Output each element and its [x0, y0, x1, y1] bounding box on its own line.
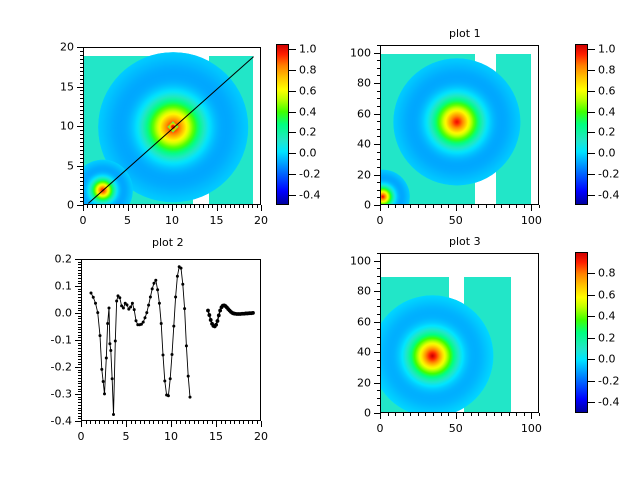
x-tick-minor — [114, 205, 115, 208]
x-tick-minor — [158, 421, 159, 424]
x-tick-minor — [168, 205, 169, 208]
colorbar-tick — [588, 195, 595, 196]
data-point-marker — [176, 275, 179, 278]
x-tick-minor — [539, 413, 540, 416]
data-point-marker — [92, 296, 95, 299]
data-point-marker — [111, 377, 114, 380]
y-tick-minor — [377, 136, 380, 137]
y-tick-minor — [78, 405, 81, 406]
x-tick-minor — [418, 413, 419, 416]
y-tick-minor — [377, 60, 380, 61]
y-tick-minor — [377, 98, 380, 99]
y-tick-minor — [78, 356, 81, 357]
y-tick-minor — [80, 98, 83, 99]
data-point-marker — [112, 413, 115, 416]
x-tick-minor — [90, 421, 91, 424]
y-tick-label: 100 — [350, 46, 371, 59]
data-point-marker — [144, 316, 147, 319]
x-tick-minor — [509, 413, 510, 416]
subplot-title-plot-2: plot 2 — [152, 236, 184, 249]
subplot-bottom-right[interactable]: plot 3 020406080100050100 -0.4-0.20.00.2… — [320, 240, 640, 480]
y-tick-minor — [80, 55, 83, 56]
x-tick-minor — [163, 205, 164, 208]
x-tick-minor — [105, 205, 106, 208]
x-tick-minor — [395, 413, 396, 416]
data-point-marker — [103, 392, 106, 395]
x-tick-major — [531, 413, 532, 419]
y-tick-minor — [78, 389, 81, 390]
data-point-marker — [154, 279, 157, 282]
data-point-marker — [181, 283, 184, 286]
y-tick-label: 10 — [60, 120, 74, 133]
y-tick-minor — [377, 299, 380, 300]
y-tick-minor — [78, 294, 81, 295]
colorbar-plot-3 — [575, 252, 588, 413]
y-tick-minor — [80, 90, 83, 91]
y-tick-label: 0.0 — [55, 307, 73, 320]
y-tick-label: -0.1 — [51, 334, 72, 347]
colorbar-tick-label: 0.6 — [598, 288, 616, 301]
x-tick-minor — [516, 413, 517, 416]
y-tick-minor — [78, 362, 81, 363]
y-tick-minor — [78, 327, 81, 328]
figure-canvas: 0510152005101520 -0.4-0.20.00.20.40.60.8… — [0, 0, 640, 480]
x-tick-major — [380, 205, 381, 211]
y-tick-minor — [80, 110, 83, 111]
x-tick-minor — [501, 205, 502, 208]
y-tick-minor — [80, 177, 83, 178]
y-tick-major — [374, 53, 380, 54]
x-tick-major — [171, 421, 172, 427]
colorbar-tick-label: -0.4 — [598, 188, 619, 201]
data-point-marker — [142, 321, 145, 324]
data-point-marker — [214, 323, 218, 327]
data-point-marker — [99, 334, 102, 337]
x-tick-major — [456, 413, 457, 419]
y-tick-minor — [78, 381, 81, 382]
y-tick-minor — [80, 130, 83, 131]
x-tick-minor — [410, 205, 411, 208]
x-tick-minor — [154, 205, 155, 208]
y-tick-minor — [78, 378, 81, 379]
y-tick-minor — [80, 181, 83, 182]
x-tick-minor — [425, 413, 426, 416]
colorbar-tick — [588, 402, 595, 403]
data-point-marker — [147, 304, 150, 307]
data-point-marker — [185, 344, 188, 347]
y-tick-minor — [377, 121, 380, 122]
colorbar-tick-label: 0.0 — [299, 147, 317, 160]
x-tick-minor — [117, 421, 118, 424]
data-point-marker — [109, 349, 112, 352]
y-tick-minor — [80, 51, 83, 52]
x-tick-minor — [135, 421, 136, 424]
y-tick-label: 15 — [60, 80, 74, 93]
x-tick-minor — [225, 205, 226, 208]
y-tick-minor — [377, 68, 380, 69]
heatmap-patch — [464, 277, 511, 413]
x-tick-minor — [410, 413, 411, 416]
y-tick-minor — [377, 390, 380, 391]
y-tick-label: 0 — [67, 199, 74, 212]
colorbar-tick — [289, 132, 296, 133]
y-tick-label: 0 — [364, 199, 371, 212]
x-tick-minor — [141, 205, 142, 208]
y-tick-minor — [80, 114, 83, 115]
y-tick-minor — [78, 332, 81, 333]
y-tick-minor — [78, 273, 81, 274]
colorbar-tick — [289, 174, 296, 175]
x-tick-minor — [418, 205, 419, 208]
data-point-marker — [108, 307, 111, 310]
x-tick-minor — [199, 205, 200, 208]
y-tick-minor — [78, 278, 81, 279]
x-tick-minor — [96, 205, 97, 208]
y-tick-minor — [377, 152, 380, 153]
y-tick-minor — [80, 94, 83, 95]
y-tick-minor — [78, 399, 81, 400]
colorbar-tick — [588, 273, 595, 274]
x-tick-minor — [136, 205, 137, 208]
x-tick-minor — [208, 205, 209, 208]
y-tick-minor — [80, 59, 83, 60]
y-tick-label: 80 — [357, 77, 371, 90]
data-point-marker — [216, 319, 220, 323]
y-tick-minor — [377, 314, 380, 315]
x-tick-minor — [87, 205, 88, 208]
y-tick-minor — [78, 359, 81, 360]
subplot-bottom-left[interactable]: plot 2 -0.4-0.3-0.2-0.10.00.10.205101520 — [0, 240, 320, 480]
data-point-marker — [149, 295, 152, 298]
x-tick-minor — [239, 421, 240, 424]
data-point-marker — [145, 311, 148, 314]
colorbar-tick — [588, 338, 595, 339]
x-tick-major — [456, 205, 457, 211]
y-tick-label: 60 — [357, 315, 371, 328]
y-tick-label: -0.3 — [51, 388, 72, 401]
y-tick-minor — [377, 190, 380, 191]
y-tick-label: 80 — [357, 285, 371, 298]
axes-top-left[interactable] — [83, 47, 261, 205]
y-tick-minor — [80, 193, 83, 194]
x-tick-major — [172, 205, 173, 211]
y-tick-minor — [80, 75, 83, 76]
x-tick-minor — [149, 421, 150, 424]
x-tick-minor — [194, 421, 195, 424]
y-tick-minor — [78, 418, 81, 419]
y-tick-major — [374, 144, 380, 145]
y-tick-major — [75, 286, 81, 287]
data-point-marker — [118, 296, 121, 299]
y-tick-minor — [78, 300, 81, 301]
x-tick-minor — [122, 421, 123, 424]
x-tick-minor — [257, 421, 258, 424]
colorbar-tick-label: -0.2 — [299, 167, 320, 180]
y-tick-minor — [80, 83, 83, 84]
colorbar-tick-label: 0.6 — [299, 84, 317, 97]
data-point-marker — [160, 322, 163, 325]
data-point-marker — [90, 291, 93, 294]
colorbar-tick-label: -0.4 — [299, 188, 320, 201]
x-tick-minor — [110, 205, 111, 208]
colorbar-tick — [289, 70, 296, 71]
x-tick-minor — [189, 421, 190, 424]
data-point-marker — [167, 394, 170, 397]
subplot-title-plot-3: plot 3 — [449, 235, 481, 248]
colorbar-tick-label: 0.6 — [598, 84, 616, 97]
colorbar-tick-label: 0.4 — [598, 310, 616, 323]
y-tick-label: 0.2 — [55, 253, 73, 266]
colorbar-tick-label: -0.2 — [598, 167, 619, 180]
x-tick-major — [81, 421, 82, 427]
y-tick-minor — [78, 408, 81, 409]
colorbar-tick-label: 0.8 — [598, 267, 616, 280]
x-tick-minor — [180, 421, 181, 424]
x-tick-label: 50 — [449, 422, 463, 435]
colorbar-tick — [289, 49, 296, 50]
x-tick-major — [380, 413, 381, 419]
y-tick-label: 60 — [357, 107, 371, 120]
y-tick-minor — [78, 267, 81, 268]
y-tick-minor — [78, 345, 81, 346]
x-tick-label: 10 — [165, 214, 179, 227]
colorbar-gradient-top-left — [277, 45, 288, 204]
x-tick-minor — [463, 413, 464, 416]
y-tick-minor — [80, 146, 83, 147]
colorbar-tick — [588, 174, 595, 175]
y-tick-minor — [377, 344, 380, 345]
y-tick-minor — [78, 291, 81, 292]
colorbar-tick — [588, 359, 595, 360]
colorbar-tick-label: 0.2 — [598, 331, 616, 344]
x-tick-label: 20 — [254, 214, 268, 227]
x-tick-minor — [159, 205, 160, 208]
data-point-marker — [156, 288, 159, 291]
x-tick-minor — [123, 205, 124, 208]
colorbar-tick — [588, 316, 595, 317]
x-tick-minor — [150, 205, 151, 208]
y-tick-minor — [80, 63, 83, 64]
colorbar-top-left — [276, 44, 289, 205]
x-tick-minor — [113, 421, 114, 424]
y-tick-minor — [78, 386, 81, 387]
x-tick-minor — [448, 205, 449, 208]
y-tick-minor — [78, 413, 81, 414]
y-tick-major — [75, 367, 81, 368]
subplot-top-left[interactable]: 0510152005101520 -0.4-0.20.00.20.40.60.8… — [0, 0, 320, 240]
y-tick-minor — [377, 106, 380, 107]
y-tick-minor — [78, 383, 81, 384]
data-point-marker — [151, 287, 154, 290]
y-tick-minor — [78, 354, 81, 355]
y-tick-minor — [78, 318, 81, 319]
x-tick-minor — [95, 421, 96, 424]
colorbar-tick-label: 0.4 — [299, 105, 317, 118]
colorbar-tick — [588, 91, 595, 92]
data-point-marker — [251, 311, 255, 315]
x-tick-minor — [471, 413, 472, 416]
data-point-marker — [100, 368, 103, 371]
data-point-marker — [172, 325, 175, 328]
y-tick-minor — [78, 281, 81, 282]
y-tick-minor — [78, 289, 81, 290]
data-point-marker — [171, 353, 174, 356]
colorbar-tick — [289, 112, 296, 113]
x-tick-minor — [494, 205, 495, 208]
x-tick-minor — [524, 413, 525, 416]
y-tick-minor — [80, 197, 83, 198]
y-tick-label: 40 — [357, 346, 371, 359]
data-point-marker — [129, 305, 132, 308]
data-point-marker — [174, 295, 177, 298]
y-tick-minor — [78, 337, 81, 338]
axes-plot-2[interactable] — [81, 259, 261, 421]
y-tick-minor — [78, 302, 81, 303]
x-tick-minor — [185, 205, 186, 208]
y-tick-minor — [78, 310, 81, 311]
x-tick-minor — [486, 205, 487, 208]
y-tick-minor — [377, 367, 380, 368]
x-tick-minor — [101, 205, 102, 208]
x-tick-major — [531, 205, 532, 211]
x-tick-minor — [448, 413, 449, 416]
colorbar-gradient-plot-1 — [576, 45, 587, 204]
y-tick-minor — [80, 138, 83, 139]
x-tick-minor — [167, 421, 168, 424]
data-point-marker — [94, 302, 97, 305]
data-point-marker — [189, 396, 192, 399]
x-tick-minor — [471, 205, 472, 208]
y-tick-major — [374, 83, 380, 84]
subplot-title-plot-1: plot 1 — [449, 27, 481, 40]
y-tick-major — [374, 261, 380, 262]
x-tick-minor — [132, 205, 133, 208]
y-tick-minor — [377, 268, 380, 269]
y-tick-minor — [377, 276, 380, 277]
y-tick-major — [374, 383, 380, 384]
y-tick-label: 40 — [357, 138, 371, 151]
x-tick-major — [217, 205, 218, 211]
y-tick-minor — [78, 375, 81, 376]
x-tick-minor — [433, 413, 434, 416]
y-tick-minor — [377, 159, 380, 160]
x-tick-label: 0 — [377, 422, 384, 435]
y-tick-minor — [377, 375, 380, 376]
y-tick-minor — [78, 324, 81, 325]
data-point-marker — [105, 357, 108, 360]
x-tick-minor — [516, 205, 517, 208]
y-tick-minor — [78, 283, 81, 284]
x-tick-minor — [243, 421, 244, 424]
y-tick-label: -0.2 — [51, 361, 72, 374]
x-tick-minor — [509, 205, 510, 208]
colorbar-tick-label: 0.0 — [598, 353, 616, 366]
y-tick-minor — [80, 79, 83, 80]
data-point-marker — [106, 322, 109, 325]
axes-plot-3[interactable] — [380, 253, 539, 413]
colorbar-tick-label: 0.4 — [598, 105, 616, 118]
y-tick-minor — [80, 189, 83, 190]
x-tick-minor — [478, 205, 479, 208]
colorbar-tick — [588, 295, 595, 296]
colorbar-tick — [289, 195, 296, 196]
y-tick-minor — [80, 162, 83, 163]
x-tick-major — [83, 205, 84, 211]
y-tick-minor — [78, 372, 81, 373]
y-tick-minor — [80, 71, 83, 72]
y-tick-major — [374, 322, 380, 323]
colorbar-plot-1 — [575, 44, 588, 205]
y-tick-minor — [377, 182, 380, 183]
y-tick-minor — [78, 316, 81, 317]
y-tick-minor — [78, 343, 81, 344]
x-tick-minor — [463, 205, 464, 208]
x-tick-minor — [207, 421, 208, 424]
colorbar-tick-label: 0.2 — [299, 126, 317, 139]
y-tick-minor — [78, 264, 81, 265]
axes-plot-1[interactable] — [380, 45, 539, 205]
x-tick-minor — [425, 205, 426, 208]
y-tick-minor — [377, 405, 380, 406]
y-tick-minor — [377, 167, 380, 168]
colorbar-tick-label: 0.8 — [598, 63, 616, 76]
y-tick-minor — [80, 201, 83, 202]
data-point-marker — [207, 313, 211, 317]
x-tick-minor — [403, 413, 404, 416]
data-point-marker — [158, 302, 161, 305]
data-point-marker — [131, 302, 134, 305]
data-point-marker — [218, 309, 222, 313]
x-tick-minor — [494, 413, 495, 416]
y-tick-minor — [377, 329, 380, 330]
y-tick-minor — [80, 106, 83, 107]
y-tick-minor — [78, 351, 81, 352]
subplot-top-right[interactable]: plot 1 020406080100050100 -0.4-0.20.00.2… — [320, 0, 640, 240]
x-tick-label: 0 — [377, 214, 384, 227]
x-tick-minor — [104, 421, 105, 424]
x-tick-minor — [234, 205, 235, 208]
y-tick-minor — [78, 321, 81, 322]
y-tick-label: 5 — [67, 159, 74, 172]
x-tick-minor — [194, 205, 195, 208]
x-tick-major — [126, 421, 127, 427]
x-tick-minor — [185, 421, 186, 424]
data-point-marker — [133, 308, 136, 311]
data-point-marker — [162, 354, 165, 357]
colorbar-tick-label: 0.2 — [598, 126, 616, 139]
x-tick-minor — [198, 421, 199, 424]
y-tick-label: -0.4 — [51, 415, 72, 428]
x-tick-minor — [221, 421, 222, 424]
y-tick-label: 100 — [350, 254, 371, 267]
heatmap-ripple — [393, 59, 520, 186]
y-tick-major — [75, 340, 81, 341]
x-tick-minor — [478, 413, 479, 416]
y-tick-major — [77, 166, 83, 167]
y-tick-minor — [78, 416, 81, 417]
y-tick-minor — [78, 270, 81, 271]
y-tick-minor — [80, 142, 83, 143]
colorbar-tick-label: 1.0 — [598, 43, 616, 56]
y-tick-major — [374, 352, 380, 353]
y-tick-major — [374, 175, 380, 176]
x-tick-minor — [243, 205, 244, 208]
x-tick-minor — [190, 205, 191, 208]
y-tick-minor — [78, 370, 81, 371]
x-tick-minor — [395, 205, 396, 208]
x-tick-minor — [388, 205, 389, 208]
x-tick-minor — [140, 421, 141, 424]
